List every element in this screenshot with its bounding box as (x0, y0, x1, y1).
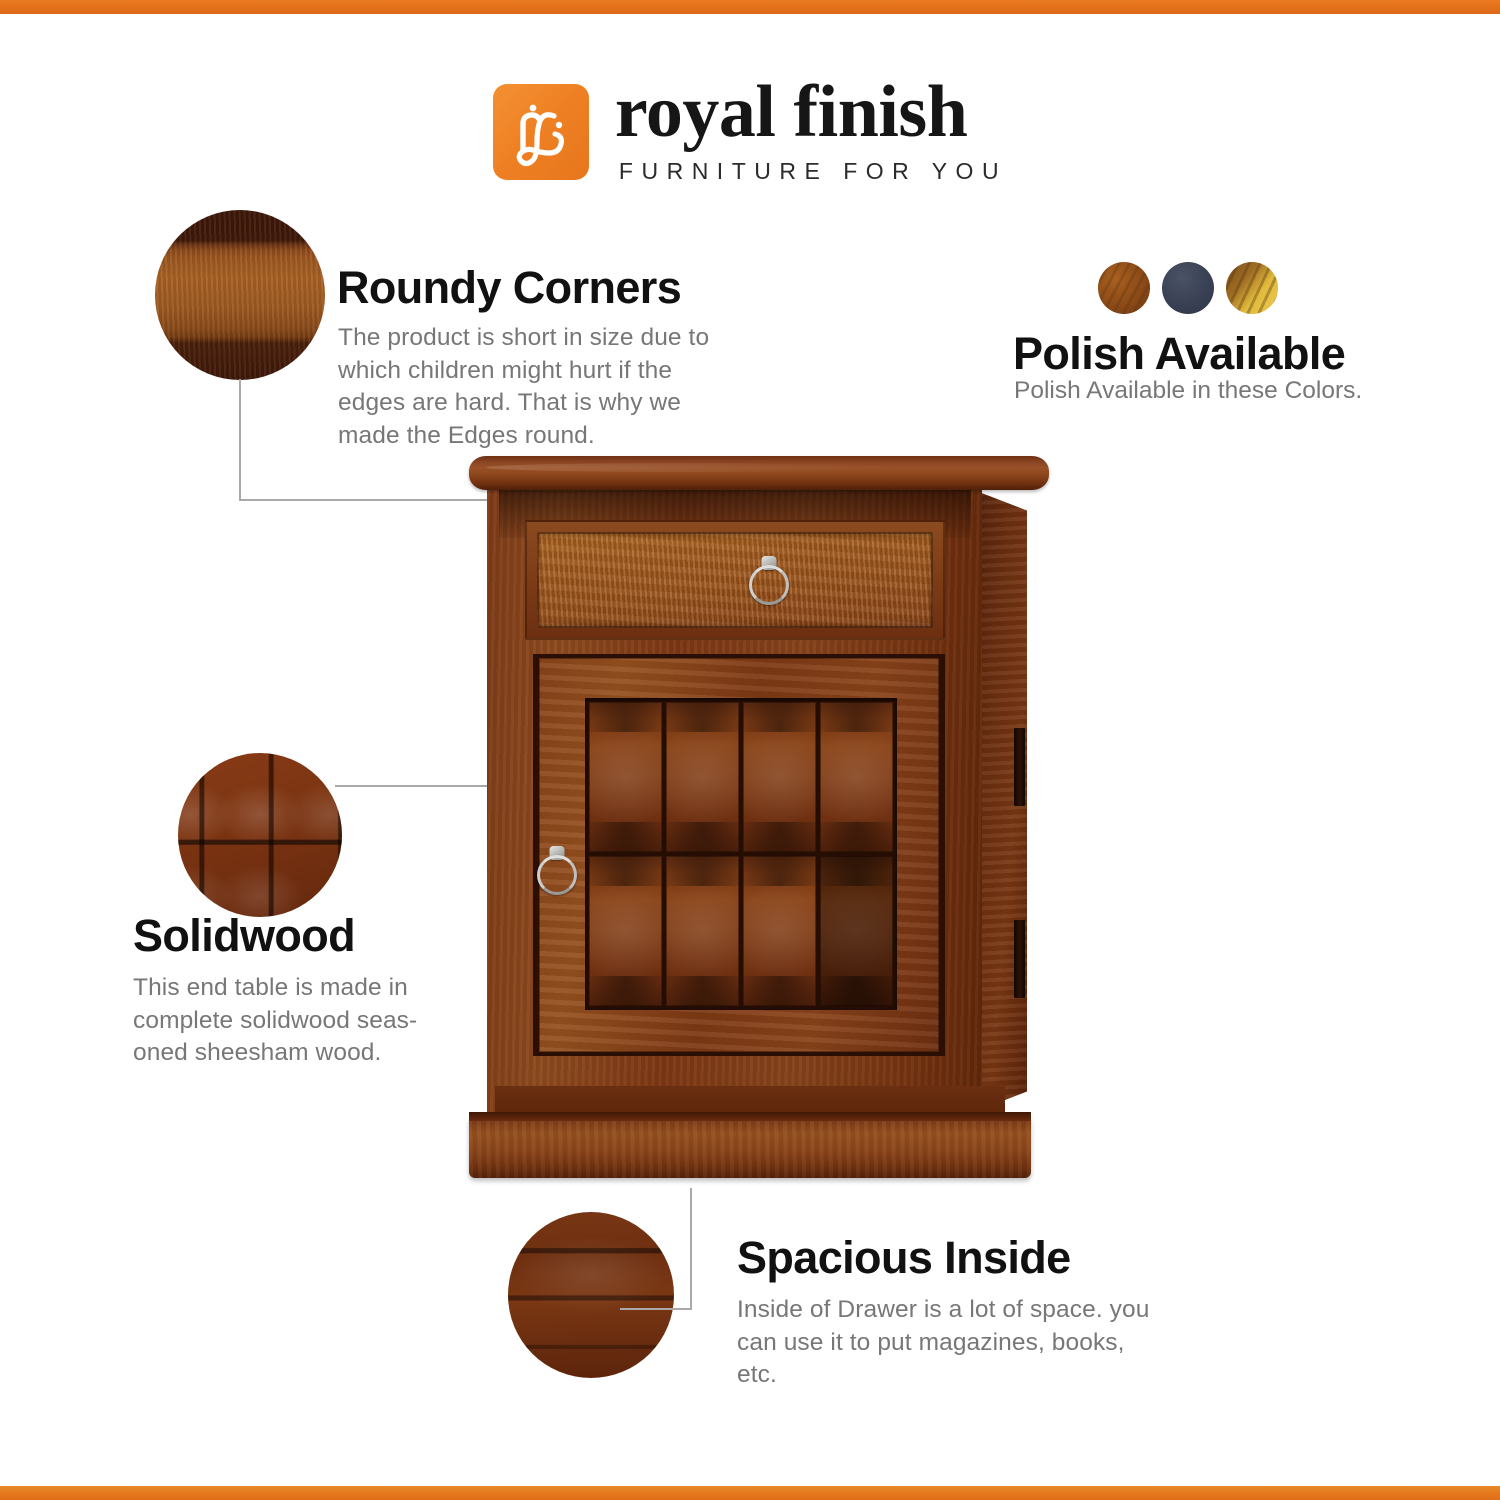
honey-brown-swatch[interactable] (1098, 262, 1150, 314)
feature-body-solidwood: This end table is made in complete solid… (133, 972, 453, 1070)
panel-block (820, 702, 893, 852)
feature-title-spacious-inside: Spacious Inside (737, 1232, 1071, 1284)
ring-loop-icon (537, 855, 577, 895)
feature-body-spacious-inside: Inside of Drawer is a lot of space. you … (737, 1294, 1157, 1392)
panel-block (666, 856, 739, 1006)
callout-solidwood (178, 753, 342, 917)
polish-title: Polish Available (1013, 328, 1345, 380)
dark-navy-swatch[interactable] (1162, 262, 1214, 314)
plinth-base (469, 1116, 1031, 1178)
rounded-edge-detail-photo (155, 210, 325, 380)
drawer-inset-panel (537, 532, 933, 628)
ring-pull-drawer[interactable] (747, 556, 791, 610)
door-beveled-panel-grid (589, 702, 893, 1006)
brand-name: royal finish (615, 78, 1007, 146)
top-accent-bar (0, 0, 1500, 14)
base-moulding-detail-photo (508, 1212, 674, 1378)
polish-swatch-group (1098, 262, 1278, 314)
door-hinge-top (1014, 728, 1025, 806)
panel-block (666, 702, 739, 852)
beveled-panel-detail-photo (178, 753, 342, 917)
connector-roundy-horizontal (239, 499, 489, 501)
connector-spacious-vertical (690, 1188, 692, 1310)
callout-spacious-inside (508, 1212, 674, 1378)
door-hinge-bottom (1014, 920, 1025, 998)
feature-body-roundy-corners: The product is short in size due to whic… (338, 322, 718, 452)
brand-header: royal finish FURNITURE FOR YOU (0, 78, 1500, 185)
rf-monogram-icon (493, 84, 589, 180)
panel-block (589, 856, 662, 1006)
connector-roundy-vertical (239, 379, 241, 500)
product-end-table (455, 448, 1045, 1188)
infographic-page: royal finish FURNITURE FOR YOU Roundy Co… (0, 0, 1500, 1500)
ring-loop-icon (749, 565, 789, 605)
brand-tagline: FURNITURE FOR YOU (619, 158, 1007, 185)
plinth-lip (469, 1112, 1031, 1121)
table-top-board (469, 456, 1049, 490)
panel-block (589, 702, 662, 852)
polish-subtitle: Polish Available in these Colors. (1014, 377, 1362, 405)
ring-pull-door[interactable] (535, 846, 579, 900)
bottom-accent-bar (0, 1486, 1500, 1500)
callout-roundy-corners (155, 210, 325, 380)
panel-block (743, 702, 816, 852)
golden-teak-swatch[interactable] (1226, 262, 1278, 314)
connector-spacious-horizontal (620, 1308, 692, 1310)
feature-title-roundy-corners: Roundy Corners (337, 262, 681, 314)
feature-title-solidwood: Solidwood (133, 910, 355, 962)
panel-block (743, 856, 816, 1006)
panel-block (820, 856, 893, 1006)
brand-wordmark: royal finish FURNITURE FOR YOU (615, 78, 1007, 185)
